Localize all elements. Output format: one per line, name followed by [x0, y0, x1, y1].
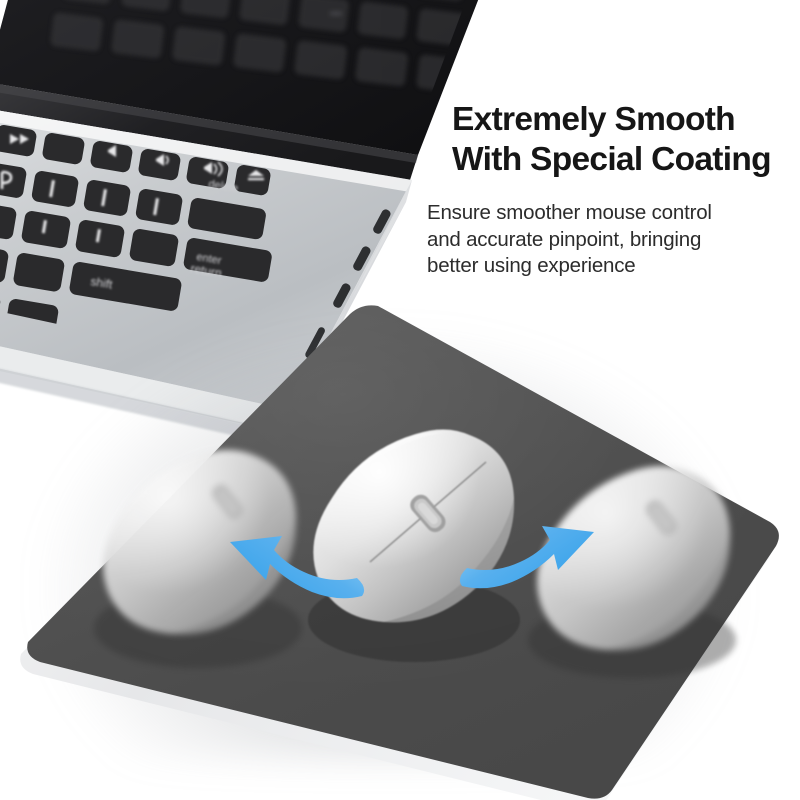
- body-line-1: Ensure smoother mouse control: [427, 200, 800, 227]
- body-line-2: and accurate pinpoint, bringing: [427, 227, 800, 254]
- headline-line-2: With Special Coating: [452, 140, 800, 180]
- arrow-glide-left[interactable]: [212, 492, 372, 617]
- arrow-glide-right[interactable]: [452, 482, 612, 607]
- marketing-copy: Extremely Smooth With Special Coating En…: [452, 100, 800, 280]
- product-marketing-image: delete enter return shift: [0, 0, 800, 800]
- headline-line-1: Extremely Smooth: [452, 100, 800, 140]
- body-line-3: better using experience: [427, 253, 800, 280]
